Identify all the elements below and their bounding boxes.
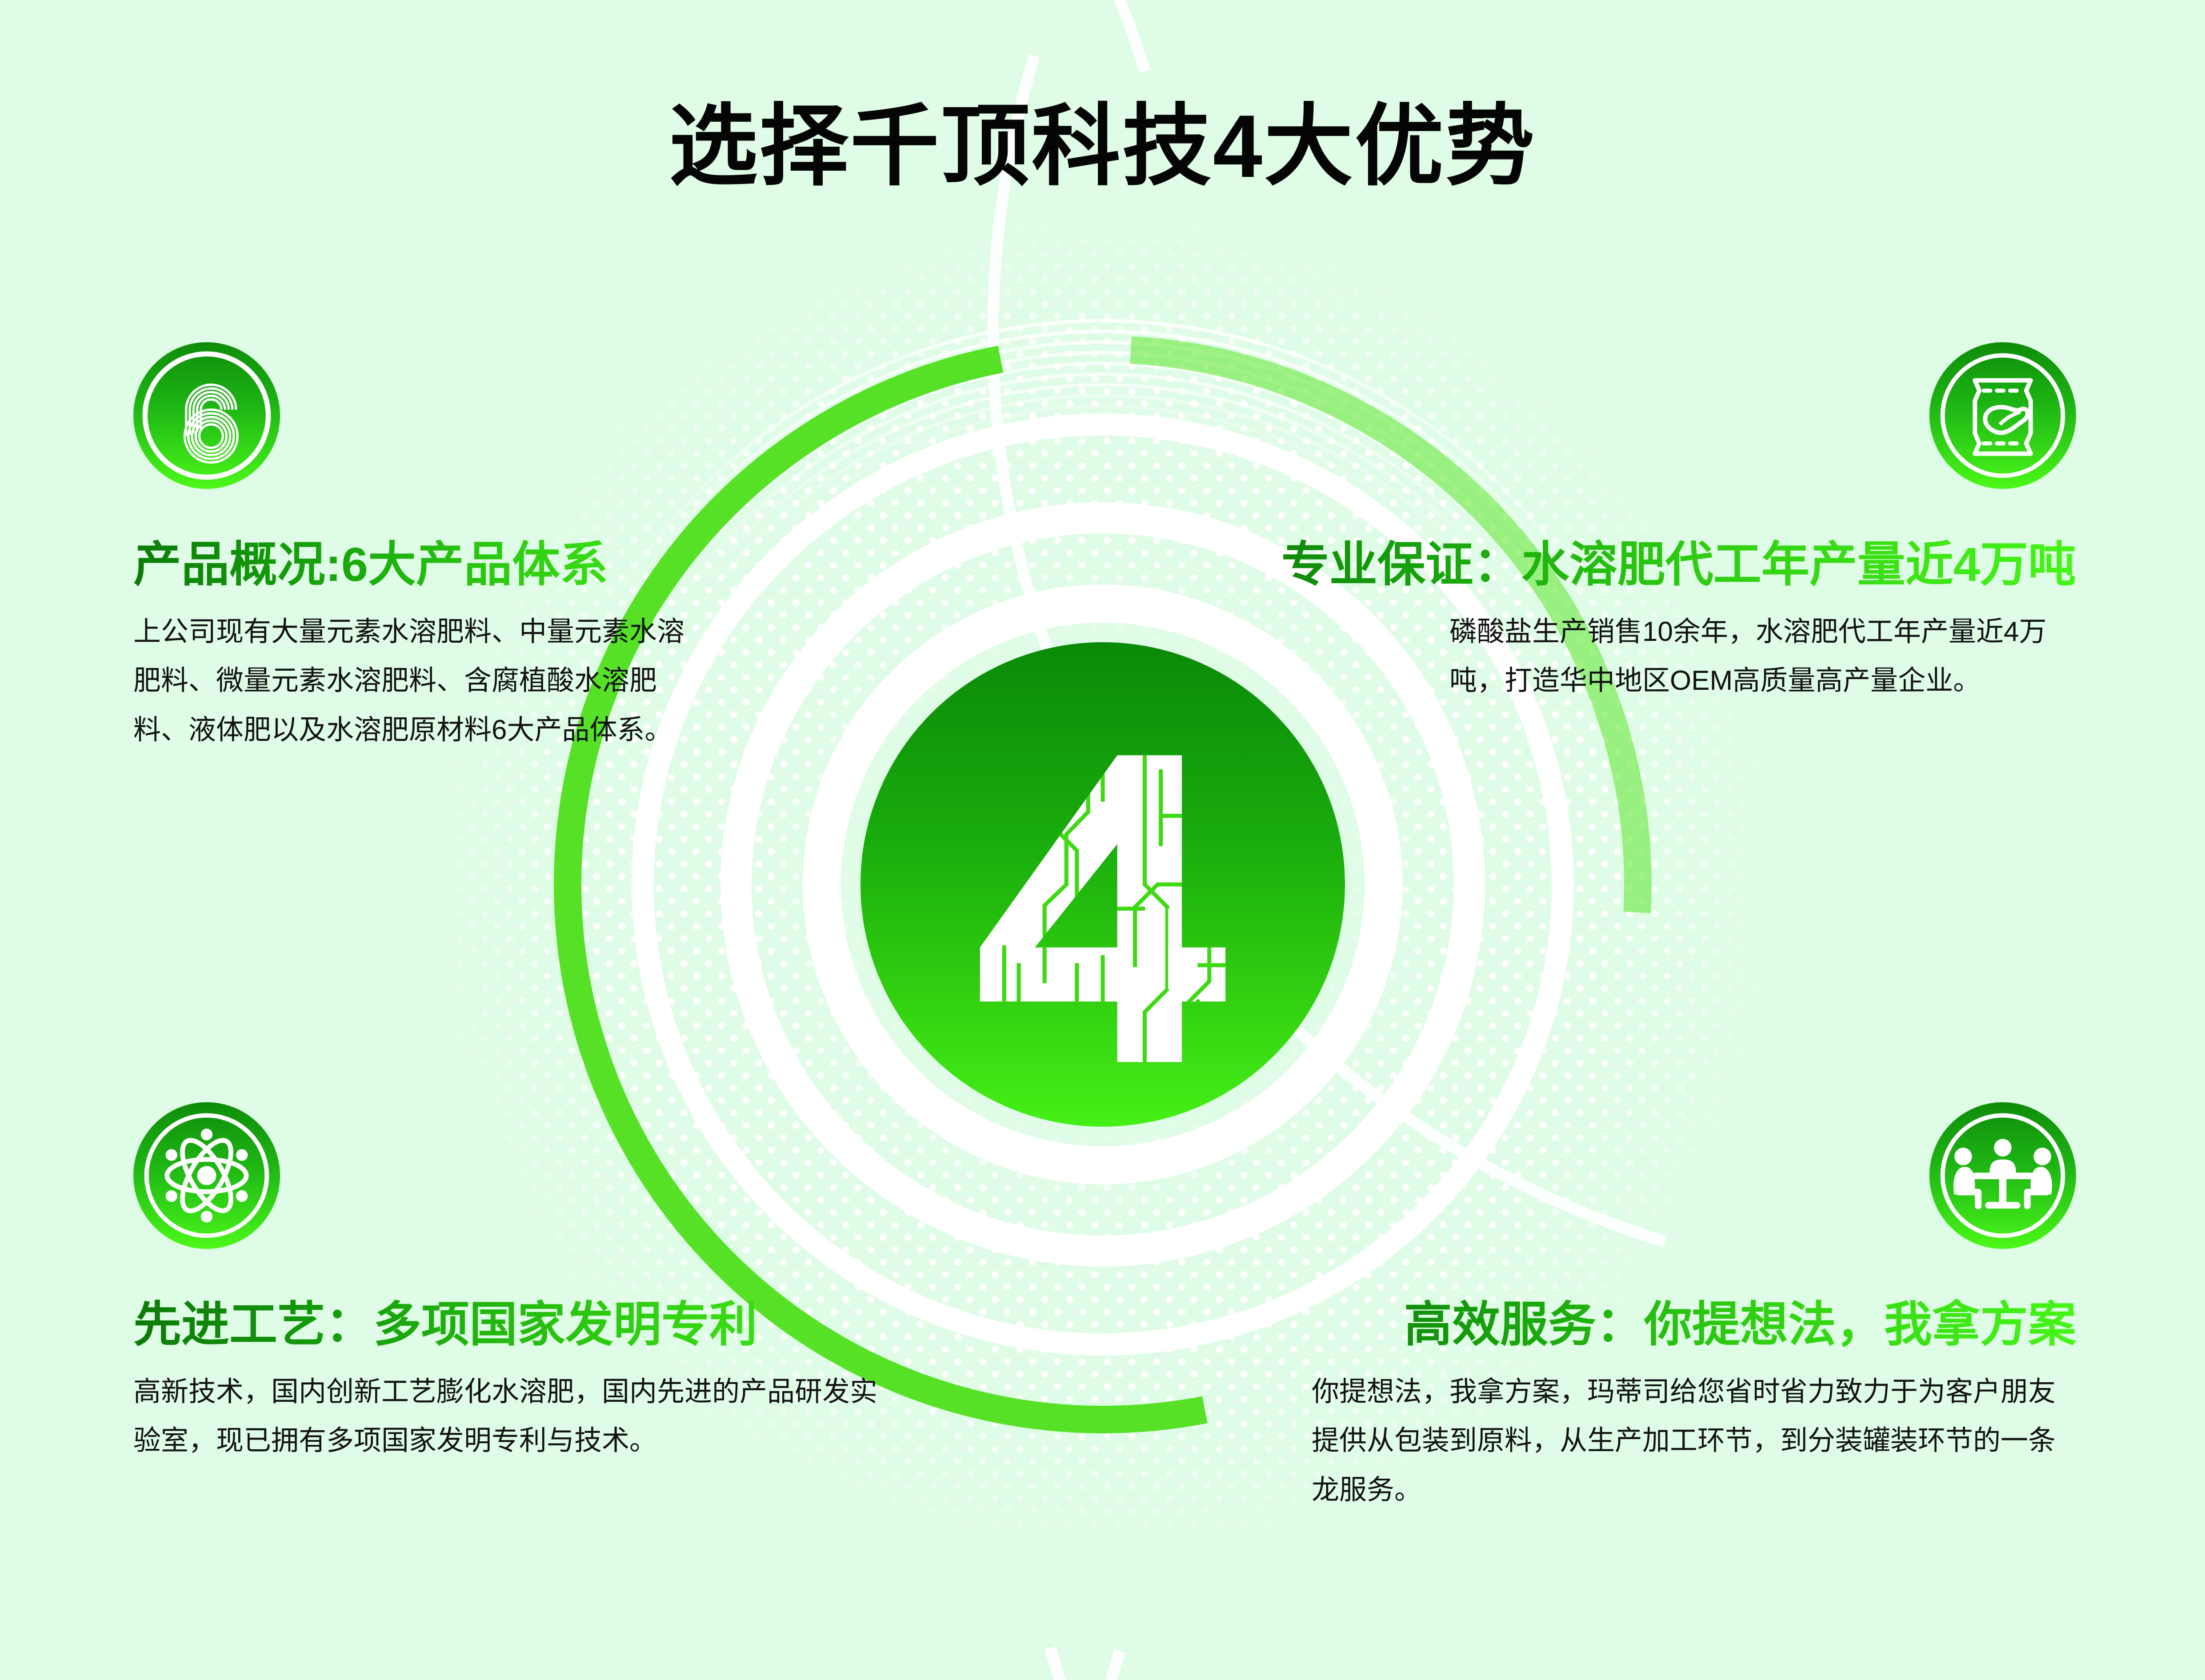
advantage-heading-bottom-right: 高效服务：你提想法，我拿方案 (1303, 1298, 2076, 1352)
meeting-people-icon (1929, 1102, 2076, 1249)
advantage-card-top-left: 产品概况:6大产品体系 上公司现有大量元素水溶肥料、中量元素水溶肥料、微量元素水… (133, 342, 756, 755)
page-title: 选择千顶科技4大优势 (0, 102, 2205, 191)
advantage-card-bottom-right: 高效服务：你提想法，我拿方案 你提想法，我拿方案，玛蒂司给您省时省力致力于为客户… (1303, 1102, 2076, 1515)
advantage-heading-top-left: 产品概况:6大产品体系 (133, 538, 756, 592)
circuit-four-icon (860, 642, 1345, 1127)
advantage-card-bottom-left: 先进工艺：多项国家发明专利 高新技术，国内创新工艺膨化水溶肥，国内先进的产品研发… (133, 1102, 933, 1466)
six-spiral-icon (133, 342, 280, 489)
advantage-body-top-left: 上公司现有大量元素水溶肥料、中量元素水溶肥料、微量元素水溶肥料、含腐植酸水溶肥料… (133, 608, 711, 755)
infographic-canvas: 选择千顶科技4大优势 (0, 0, 2205, 1680)
advantage-body-top-right: 磷酸盐生产销售10余年，水溶肥代工年产量近4万吨，打造华中地区OEM高质量高产量… (1449, 608, 2076, 706)
advantage-body-bottom-right: 你提想法，我拿方案，玛蒂司给您省时省力致力于为客户朋友提供从包装到原料，从生产加… (1312, 1368, 2076, 1515)
advantage-heading-top-right: 专业保证：水溶肥代工年产量近4万吨 (1196, 538, 2076, 592)
advantage-body-bottom-left: 高新技术，国内创新工艺膨化水溶肥，国内先进的产品研发实验室，现已拥有多项国家发明… (133, 1368, 898, 1466)
atom-icon (133, 1102, 280, 1249)
center-number-badge (860, 642, 1345, 1127)
advantage-card-top-right: 专业保证：水溶肥代工年产量近4万吨 磷酸盐生产销售10余年，水溶肥代工年产量近4… (1196, 342, 2076, 706)
fertilizer-bag-icon (1929, 342, 2076, 489)
advantage-heading-bottom-left: 先进工艺：多项国家发明专利 (133, 1298, 933, 1352)
